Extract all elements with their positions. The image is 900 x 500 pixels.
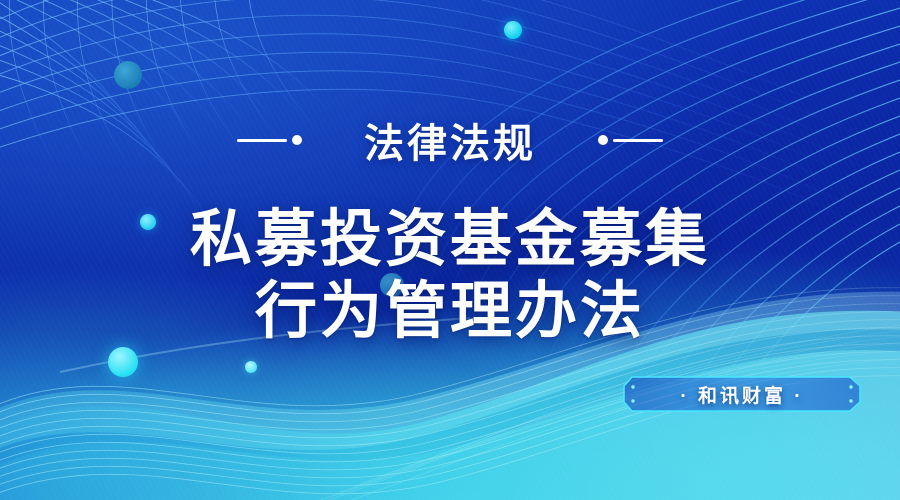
eyebrow-rule-right — [598, 135, 663, 145]
banner-headline: 私募投资基金募集 行为管理办法 — [0, 204, 900, 348]
teal-dot-top-left-icon — [114, 61, 142, 89]
eyebrow-rule-left — [237, 135, 302, 145]
cyan-dot-top-icon — [504, 21, 522, 39]
category-eyebrow-row: 法律法规 — [0, 108, 900, 172]
brand-badge: · 和讯财富 · — [622, 373, 862, 415]
headline-line-1: 私募投资基金募集 — [0, 204, 900, 276]
category-label: 法律法规 — [364, 111, 536, 169]
cyan-dot-large-icon — [108, 347, 138, 377]
headline-line-2: 行为管理办法 — [0, 276, 900, 348]
promo-banner: 法律法规 私募投资基金募集 行为管理办法 · 和讯财富 · — [0, 0, 900, 500]
brand-badge-label: · 和讯财富 · — [680, 381, 803, 408]
cyan-dot-small-icon — [245, 361, 257, 373]
